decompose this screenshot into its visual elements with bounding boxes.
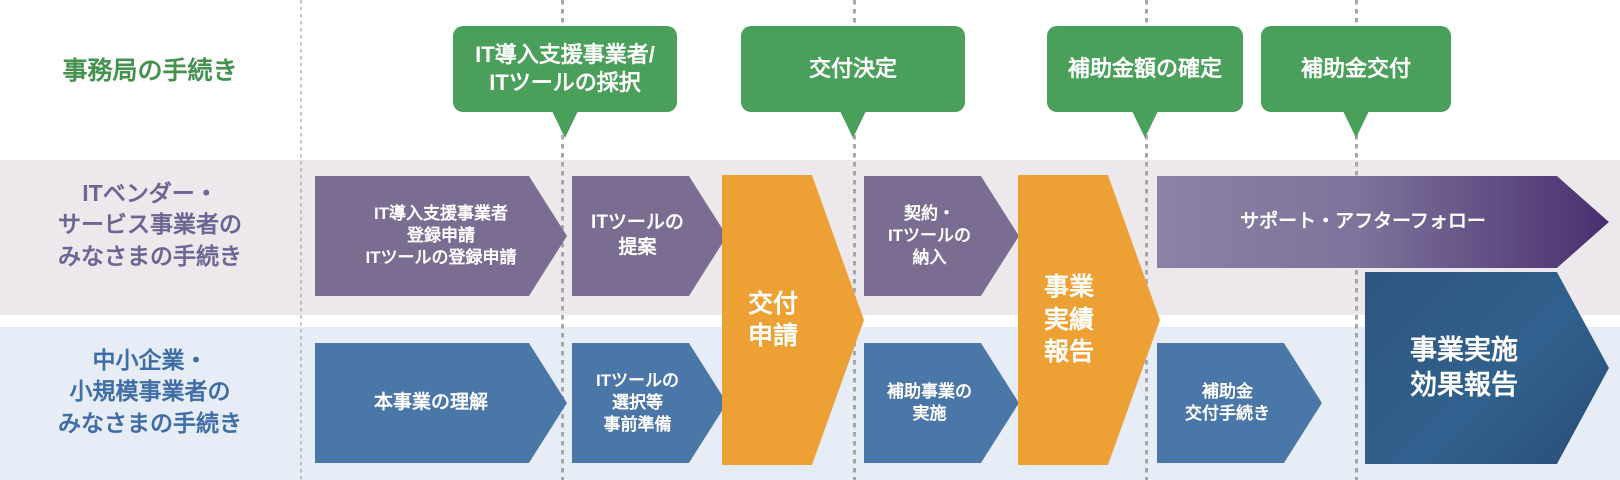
callout-amount-fixed-line1: 補助金額の確定 [1068,55,1222,83]
step-implement-project-line2: 実施 [913,403,947,425]
guide-line-0 [300,0,302,480]
step-performance-report-line2: 実績 [1044,304,1094,337]
row-label-vendor-line1: ITベンダー・ [0,178,300,209]
callout-grant-decision[interactable]: 交付決定 [741,26,965,112]
step-support-follow[interactable]: サポート・アフターフォロー [1157,176,1609,268]
step-understand-program-label: 本事業の理解 [374,391,488,416]
step-support-follow-label: サポート・アフターフォロー [1240,210,1486,235]
callout-tail-icon [840,111,866,138]
step-grant-application-line1: 交付 [748,288,798,321]
step-tool-selection-line3: 事前準備 [604,414,672,436]
callout-grant-decision-line1: 交付決定 [809,55,897,83]
row-label-vendor-line3: みなさまの手続き [0,241,300,272]
callout-adoption-line2: ITツールの採択 [475,69,655,97]
row-label-sme-line1: 中小企業・ [0,345,300,376]
callout-grant-payment-line1: 補助金交付 [1301,55,1411,83]
step-vendor-registration-line2: 登録申請 [407,225,475,247]
row-label-vendor: ITベンダー・ サービス事業者の みなさまの手続き [0,178,300,272]
process-flow-diagram: 事務局の手続き ITベンダー・ サービス事業者の みなさまの手続き 中小企業・ … [0,0,1620,480]
step-contract-delivery-line2: ITツールの [888,225,971,247]
step-tool-proposal-line2: 提案 [618,236,656,261]
step-vendor-registration[interactable]: IT導入支援事業者 登録申請 ITツールの登録申請 [315,176,567,296]
callout-tail-icon [552,111,578,138]
row-label-sme-line2: 小規模事業者の [0,376,300,407]
callout-amount-fixed[interactable]: 補助金額の確定 [1047,26,1243,112]
callout-adoption[interactable]: IT導入支援事業者/ ITツールの採択 [453,26,677,112]
step-effect-report-line1: 事業実施 [1410,333,1518,368]
step-understand-program[interactable]: 本事業の理解 [315,343,567,463]
step-contract-delivery-line3: 納入 [913,247,947,269]
step-grant-application-line2: 申請 [748,320,798,353]
step-vendor-registration-line1: IT導入支援事業者 [374,203,508,225]
step-implement-project-line1: 補助事業の [887,381,972,403]
row-label-office-text: 事務局の手続き [0,54,300,88]
step-effect-report-line2: 効果報告 [1410,368,1518,403]
callout-adoption-line1: IT導入支援事業者/ [475,41,655,69]
callout-grant-payment[interactable]: 補助金交付 [1261,26,1451,112]
step-tool-selection-line1: ITツールの [596,370,679,392]
step-tool-selection-line2: 選択等 [612,392,663,414]
step-grant-procedure-line2: 交付手続き [1185,403,1270,425]
step-effect-report[interactable]: 事業実施 効果報告 [1365,272,1609,464]
row-label-sme: 中小企業・ 小規模事業者の みなさまの手続き [0,345,300,439]
step-contract-delivery-line1: 契約・ [904,203,955,225]
row-label-vendor-line2: サービス事業者の [0,209,300,240]
step-performance-report-line3: 報告 [1044,336,1094,369]
row-label-sme-line3: みなさまの手続き [0,408,300,439]
step-vendor-registration-line3: ITツールの登録申請 [365,247,516,269]
step-grant-procedure-line1: 補助金 [1202,381,1253,403]
row-label-office: 事務局の手続き [0,54,300,88]
callout-tail-icon [1132,111,1158,138]
step-tool-proposal-line1: ITツールの [591,211,684,236]
step-performance-report-line1: 事業 [1044,271,1094,304]
callout-tail-icon [1343,111,1369,138]
